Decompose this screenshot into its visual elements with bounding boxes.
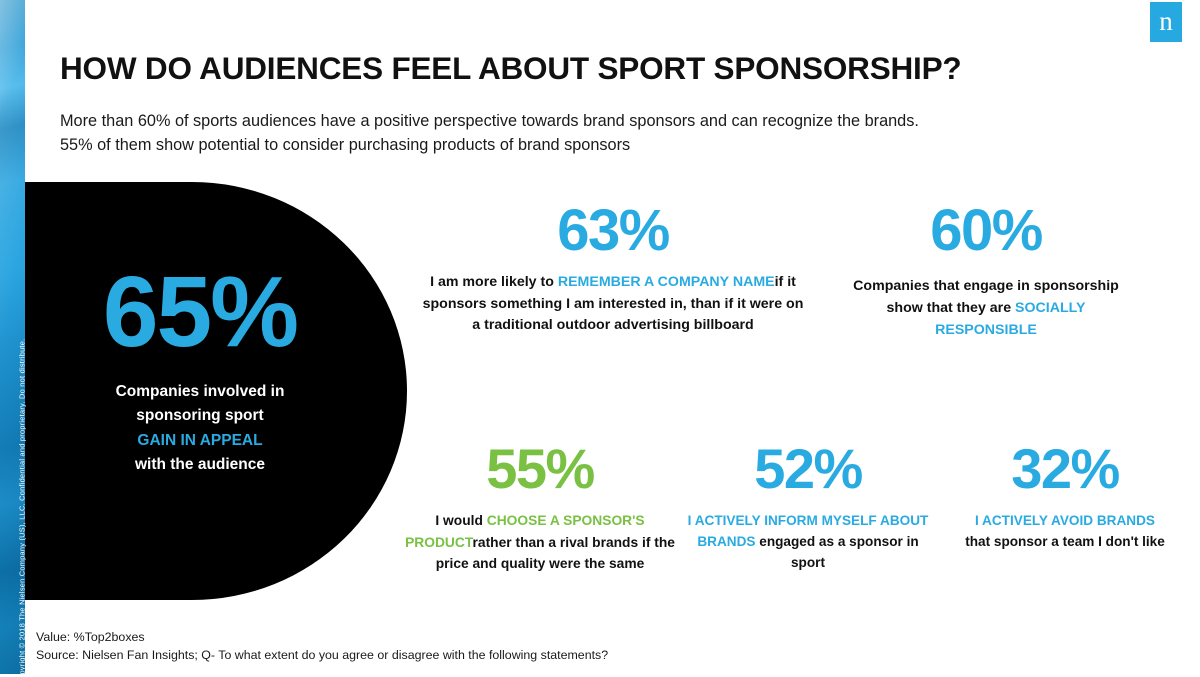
stat-32-highlight: I ACTIVELY AVOID BRANDS [975,513,1155,528]
stat-caption-60: Companies that engage in sponsorship sho… [836,275,1136,341]
footer-source-note: Value: %Top2boxes Source: Nielsen Fan In… [36,629,608,665]
hero-caption-line-1: Companies involved in [116,383,285,400]
stat-caption-63: I am more likely to REMEMBER A COMPANY N… [418,272,808,337]
page-subtitle: More than 60% of sports audiences have a… [60,110,1150,157]
subtitle-line-2: 55% of them show potential to consider p… [60,134,1150,158]
hero-stat-caption: Companies involved in sponsoring sport G… [116,380,285,478]
copyright-notice: Copyright © 2018 The Nielsen Company (US… [0,149,25,669]
page-title: HOW DO AUDIENCES FEEL ABOUT SPORT SPONSO… [60,50,1160,87]
stat-block-32: 32% I ACTIVELY AVOID BRANDS that sponsor… [940,442,1190,552]
footer-line-1: Value: %Top2boxes [36,629,608,647]
stat-55-text-post: rather than a rival brands if the price … [436,535,675,571]
stat-block-60: 60% Companies that engage in sponsorship… [836,203,1136,342]
stat-value-55: 55% [405,442,675,495]
footer-line-2: Source: Nielsen Fan Insights; Q- To what… [36,647,608,665]
stat-55-text-pre: I would [435,513,486,528]
slide-canvas: Copyright © 2018 The Nielsen Company (US… [0,0,1200,677]
stat-caption-52: I ACTIVELY INFORM MYSELF ABOUT BRANDS en… [683,510,933,573]
stat-value-52: 52% [683,442,933,495]
hero-caption-line-2: sponsoring sport [136,407,263,424]
stat-value-63: 63% [418,203,808,258]
stat-52-text-post: engaged as a sponsor in sport [759,534,918,570]
stat-value-32: 32% [940,442,1190,495]
stat-block-55: 55% I would CHOOSE A SPONSOR'S PRODUCTra… [405,442,675,574]
stat-block-52: 52% I ACTIVELY INFORM MYSELF ABOUT BRAND… [683,442,933,573]
hero-stat-block: 65% Companies involved in sponsoring spo… [25,182,375,600]
nielsen-n-glyph: n [1159,8,1173,35]
stat-63-text-pre: I am more likely to [430,274,558,290]
subtitle-line-1: More than 60% of sports audiences have a… [60,112,919,130]
stat-block-63: 63% I am more likely to REMEMBER A COMPA… [418,203,808,337]
hero-caption-line-4: with the audience [135,456,265,473]
stat-caption-32: I ACTIVELY AVOID BRANDS that sponsor a t… [940,510,1190,552]
hero-stat-value: 65% [103,266,297,358]
stat-63-highlight: REMEMBER A COMPANY NAME [558,274,775,290]
nielsen-logo: n [1150,2,1182,42]
stat-caption-55: I would CHOOSE A SPONSOR'S PRODUCTrather… [405,510,675,574]
copyright-text: Copyright © 2018 The Nielsen Company (US… [18,305,27,677]
stat-32-text-post: that sponsor a team I don't like [965,534,1165,549]
hero-caption-highlight: GAIN IN APPEAL [137,432,262,449]
stat-value-60: 60% [836,203,1136,258]
